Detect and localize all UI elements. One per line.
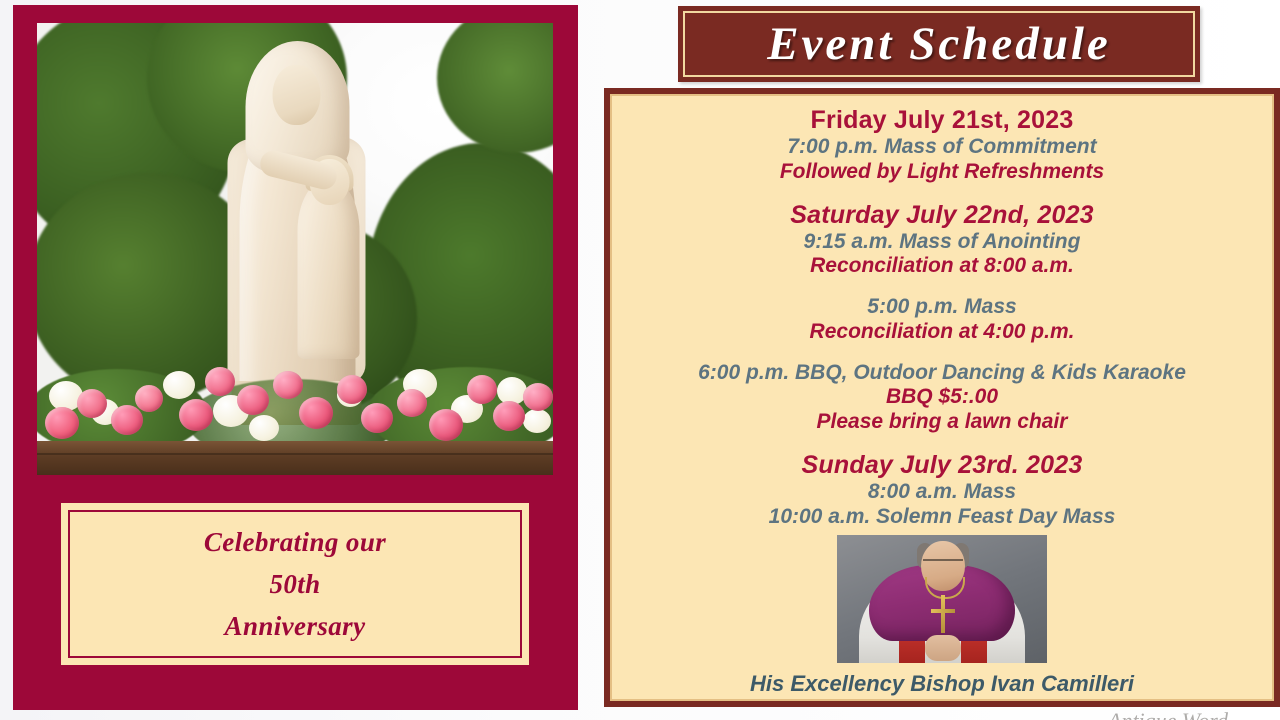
bishop-name: His Excellency Bishop Ivan Camilleri (626, 671, 1258, 697)
pink-rose (299, 397, 333, 429)
schedule-line: 5:00 p.m. Mass (626, 295, 1258, 320)
schedule-line: 8:00 a.m. Mass (626, 480, 1258, 505)
pink-rose (337, 375, 367, 404)
event-schedule-title: Event Schedule (767, 17, 1111, 71)
eyeglasses-icon (923, 559, 963, 561)
pink-rose (237, 385, 269, 415)
schedule-line: BBQ $5:.00 (626, 385, 1258, 410)
statue-photo (37, 23, 553, 475)
bishop-portrait-photo (837, 535, 1047, 663)
schedule-line: Reconciliation at 4:00 p.m. (626, 320, 1258, 345)
schedule-line: Reconciliation at 8:00 a.m. (626, 254, 1258, 279)
pectoral-cross-icon (941, 595, 945, 633)
pink-rose (493, 401, 525, 431)
pink-rose (45, 407, 79, 439)
white-flower (523, 409, 551, 433)
pink-rose (77, 389, 107, 418)
schedule-line: 9:15 a.m. Mass of Anointing (626, 230, 1258, 255)
day-heading: Sunday July 23rd. 2023 (626, 451, 1258, 480)
pink-rose (111, 405, 143, 435)
pink-rose (523, 383, 553, 411)
flower-arrangement (37, 323, 553, 475)
schedule-line: 10:00 a.m. Solemn Feast Day Mass (626, 505, 1258, 530)
pink-rose (179, 399, 213, 431)
schedule-line: Followed by Light Refreshments (626, 160, 1258, 185)
footer-cutoff-text: Antique Word (1108, 708, 1280, 720)
schedule-day-block: Friday July 21st, 2023 7:00 p.m. Mass of… (626, 106, 1258, 185)
left-crimson-panel: Celebrating our 50th Anniversary (13, 5, 578, 710)
anniversary-line-3: Anniversary (225, 613, 366, 640)
schedule-day-block: 6:00 p.m. BBQ, Outdoor Dancing & Kids Ka… (626, 361, 1258, 435)
anniversary-line-1: Celebrating our (204, 529, 386, 556)
statue-face (273, 65, 321, 125)
pink-rose (397, 389, 427, 417)
bishop-note-line: Followed by an Outdoor Procession (626, 698, 1258, 701)
bishop-info-block: His Excellency Bishop Ivan Camilleri Fol… (626, 671, 1258, 701)
event-schedule-banner: Event Schedule (678, 6, 1200, 82)
schedule-line: Please bring a lawn chair (626, 410, 1258, 435)
schedule-content: Friday July 21st, 2023 7:00 p.m. Mass of… (610, 94, 1274, 701)
pink-rose (467, 375, 497, 404)
pink-rose (205, 367, 235, 396)
pink-rose (361, 403, 393, 433)
poster-canvas: Celebrating our 50th Anniversary Event S… (0, 0, 1280, 720)
schedule-panel: Friday July 21st, 2023 7:00 p.m. Mass of… (604, 88, 1280, 707)
anniversary-box: Celebrating our 50th Anniversary (61, 503, 529, 665)
white-flower (249, 415, 279, 441)
bishop-hands (925, 635, 961, 661)
anniversary-line-2: 50th (269, 571, 320, 598)
pink-rose (135, 385, 163, 412)
pink-rose (273, 371, 303, 399)
schedule-day-block: 5:00 p.m. Mass Reconciliation at 4:00 p.… (626, 295, 1258, 345)
anniversary-inner-border: Celebrating our 50th Anniversary (68, 510, 522, 658)
event-banner-inner-border: Event Schedule (683, 11, 1195, 77)
day-heading: Saturday July 22nd, 2023 (626, 201, 1258, 230)
pectoral-cross-icon (931, 609, 955, 613)
wooden-ledge (37, 441, 553, 475)
pink-rose (429, 409, 463, 441)
schedule-day-block: Saturday July 22nd, 2023 9:15 a.m. Mass … (626, 201, 1258, 280)
day-heading: Friday July 21st, 2023 (626, 106, 1258, 135)
schedule-line: 7:00 p.m. Mass of Commitment (626, 135, 1258, 160)
schedule-day-block: Sunday July 23rd. 2023 8:00 a.m. Mass 10… (626, 451, 1258, 530)
white-flower (163, 371, 195, 399)
schedule-line: 6:00 p.m. BBQ, Outdoor Dancing & Kids Ka… (626, 361, 1258, 386)
